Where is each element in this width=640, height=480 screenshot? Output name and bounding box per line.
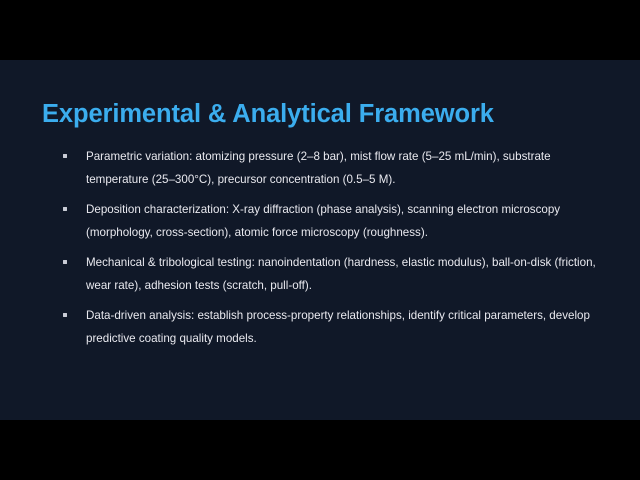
list-item: Mechanical & tribological testing: nanoi… [56,251,604,297]
letterbox-bar-bottom [0,420,640,480]
presentation-slide: Experimental & Analytical Framework Para… [0,60,640,420]
letterbox-bar-top [0,0,640,60]
bullet-marker-icon [63,313,67,317]
list-item: Data-driven analysis: establish process-… [56,304,604,350]
bullet-list: Parametric variation: atomizing pressure… [56,145,604,357]
list-item-text: Deposition characterization: X-ray diffr… [86,198,604,244]
list-item-text: Data-driven analysis: establish process-… [86,304,604,350]
list-item-text: Parametric variation: atomizing pressure… [86,145,604,191]
page-title: Experimental & Analytical Framework [42,100,494,128]
list-item: Deposition characterization: X-ray diffr… [56,198,604,244]
bullet-marker-icon [63,260,67,264]
bullet-marker-icon [63,154,67,158]
list-item-text: Mechanical & tribological testing: nanoi… [86,251,604,297]
list-item: Parametric variation: atomizing pressure… [56,145,604,191]
bullet-marker-icon [63,207,67,211]
video-player-screen: Experimental & Analytical Framework Para… [0,0,640,480]
